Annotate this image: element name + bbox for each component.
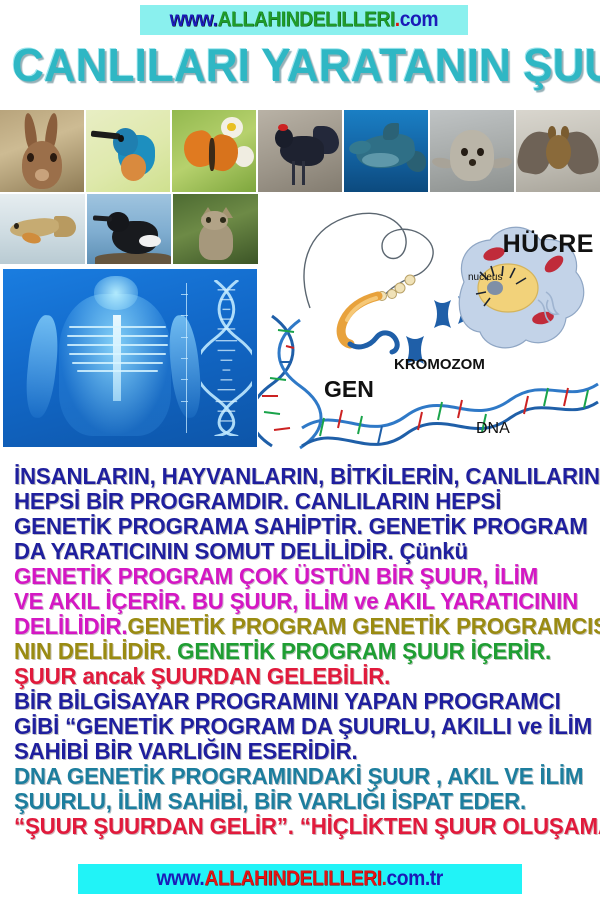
bat-photo: [516, 110, 600, 192]
label-nucleus: nucleus: [468, 272, 502, 283]
text-line: ŞUUR ancak ŞUURDAN GELEBİLİR.: [14, 664, 577, 689]
kingfisher-eye: [118, 135, 124, 142]
text-segment: BİR BİLGİSAYAR PROGRAMINI YAPAN PROGRAMC…: [14, 688, 561, 714]
text-segment: NIN DELİLİDİR.: [14, 638, 177, 664]
header-url-tld: com: [400, 8, 438, 31]
nucleolus-shape: [487, 281, 503, 295]
kingfisher-photo: [86, 110, 170, 192]
text-line: DA YARATICININ SOMUT DELİLİDİR. Çünkü: [14, 539, 577, 564]
animal-photo-grid-row-2: [0, 194, 258, 264]
rabbit-head: [22, 141, 62, 189]
text-line: “ŞUUR ŞUURDAN GELİR”. “HİÇLİKTEN ŞUUR OL…: [14, 814, 577, 839]
text-line: SAHİBİ BİR VARLIĞIN ESERİDİR.: [14, 739, 577, 764]
text-segment: İNSANLARIN, HAYVANLARIN, BİTKİLERİN, CAN…: [14, 463, 600, 489]
text-line: ŞUURLU, İLİM SAHİBİ, BİR VARLIĞI İSPAT E…: [14, 789, 577, 814]
xray-ruler-tick: [181, 294, 188, 295]
page-title: CANLILARI YARATANIN ŞUURU: [12, 38, 588, 92]
human-body-xray-dna-image: [2, 268, 258, 448]
text-line: GİBİ “GENETİK PROGRAM DA ŞUURLU, AKILLI …: [14, 714, 577, 739]
text-line: İNSANLARIN, HAYVANLARIN, BİTKİLERİN, CAN…: [14, 464, 577, 489]
footer-url-banner[interactable]: www.ALLAHINDELILLERI.com.tr: [78, 864, 522, 894]
text-line: DELİLİDİR.GENETİK PROGRAM GENETİK PROGRA…: [14, 614, 577, 639]
xray-arm-right: [165, 314, 204, 420]
black-grouse-photo: [258, 110, 342, 192]
seal-eye-left: [461, 148, 468, 156]
xray-rib: [69, 353, 166, 355]
seal-nose: [469, 159, 477, 166]
rabbit-eye-left: [27, 153, 34, 162]
rabbit-eye-right: [50, 153, 57, 162]
text-segment: VE AKIL İÇERİR. BU ŞUUR, İLİM ve AKIL YA…: [14, 588, 578, 614]
rabbit-snout: [35, 169, 48, 180]
footer-url-text: www.ALLAHINDELILLERI.com.tr: [157, 867, 443, 891]
guillemot-wing-patch: [139, 235, 161, 248]
text-line: GENETİK PROGRAM ÇOK ÜSTÜN BİR ŞUUR, İLİM: [14, 564, 577, 589]
header-url-text: www.ALLAHINDELILLERI.com: [170, 8, 438, 32]
dolphin-photo: [344, 110, 428, 192]
header-url-prefix: www.: [170, 8, 218, 31]
guillemot-head: [107, 212, 129, 232]
footer-url-tld: com.tr: [387, 867, 443, 890]
text-line: NIN DELİLİDİR. GENETİK PROGRAM ŞUUR İÇER…: [14, 639, 577, 664]
xray-ruler-tick: [181, 379, 188, 380]
chromatin-loop: [304, 213, 433, 308]
text-segment: DA YARATICININ SOMUT DELİLİDİR. Çünkü: [14, 538, 468, 564]
grouse-leg-right: [302, 161, 305, 186]
xray-ruler-tick: [181, 337, 188, 338]
text-segment: GENETİK PROGRAMA SAHİPTİR. GENETİK PROGR…: [14, 513, 588, 539]
dna-helix-icon: [201, 280, 252, 437]
xray-ruler-tick: [181, 358, 188, 359]
kingfisher-belly: [121, 154, 146, 180]
xray-rib: [69, 326, 166, 328]
text-segment: DNA GENETİK PROGRAMINDAKİ ŞUUR , AKIL VE…: [14, 763, 583, 789]
text-line: DNA GENETİK PROGRAMINDAKİ ŞUUR , AKIL VE…: [14, 764, 577, 789]
dolphin-dorsal-fin: [383, 123, 400, 139]
text-segment: GENETİK PROGRAM ŞUUR İÇERİR.: [177, 638, 551, 664]
seal-eye-right: [477, 148, 484, 156]
nucleosome-beads: [378, 275, 416, 301]
label-hucre: HÜCRE: [503, 230, 594, 259]
text-line: GENETİK PROGRAMA SAHİPTİR. GENETİK PROGR…: [14, 514, 577, 539]
text-segment: SAHİBİ BİR VARLIĞIN ESERİDİR.: [14, 738, 358, 764]
cat-eye-left: [206, 217, 212, 223]
xray-ruler-tick: [181, 315, 188, 316]
rabbit-photo: [0, 110, 84, 192]
xray-head: [94, 276, 137, 310]
text-segment: DELİLİDİR.: [14, 613, 127, 639]
fish-photo: [0, 194, 85, 264]
text-segment: ŞUUR ancak ŞUURDAN GELEBİLİR.: [14, 663, 390, 689]
text-segment: “ŞUUR ŞUURDAN GELİR”. “HİÇLİKTEN ŞUUR OL…: [14, 813, 600, 839]
footer-url-name: ALLAHINDELILLERI: [205, 867, 382, 890]
header-url-banner[interactable]: www.ALLAHINDELILLERI.com: [140, 5, 468, 35]
text-segment: GENETİK PROGRAM GENETİK PROGRAMCISI-: [127, 613, 600, 639]
text-segment: GENETİK PROGRAM ÇOK ÜSTÜN BİR ŞUUR, İLİM: [14, 563, 538, 589]
label-dna: DNA: [476, 420, 510, 438]
animal-photo-grid-row-1: [0, 110, 600, 192]
guillemot-beak: [93, 216, 112, 222]
cat-eye-right: [220, 217, 226, 223]
xray-spine: [113, 315, 121, 400]
xray-rib: [67, 335, 169, 337]
seal-photo: [430, 110, 514, 192]
xray-ruler-tick: [181, 401, 188, 402]
main-text-block: İNSANLARIN, HAYVANLARIN, BİTKİLERİN, CAN…: [14, 464, 594, 839]
footer-url-prefix: www.: [157, 867, 205, 890]
cat-photo: [173, 194, 258, 264]
xray-arm-left: [23, 314, 62, 420]
text-segment: ŞUURLU, İLİM SAHİBİ, BİR VARLIĞI İSPAT E…: [14, 788, 526, 814]
text-line: HEPSİ BİR PROGRAMDIR. CANLILARIN HEPSİ: [14, 489, 577, 514]
cell-gene-chromosome-dna-diagram: HÜCRE nucleus KROMOZOM GEN DNA: [258, 196, 600, 458]
grouse-leg-left: [292, 161, 295, 186]
header-url-name: ALLAHINDELILLERI: [218, 8, 395, 31]
guillemot-photo: [87, 194, 172, 264]
butterfly-photo: [172, 110, 256, 192]
seal-body: [450, 130, 494, 181]
text-line: BİR BİLGİSAYAR PROGRAMINI YAPAN PROGRAMC…: [14, 689, 577, 714]
butterfly-body: [209, 138, 215, 171]
xray-rib: [67, 344, 169, 346]
gene-segment: [350, 333, 397, 352]
text-segment: HEPSİ BİR PROGRAMDIR. CANLILARIN HEPSİ: [14, 488, 501, 514]
xray-rib: [72, 362, 163, 364]
grouse-head: [275, 128, 293, 148]
guillemot-rock: [95, 253, 171, 264]
label-gen: GEN: [324, 376, 374, 403]
text-segment: GİBİ “GENETİK PROGRAM DA ŞUURLU, AKILLI …: [14, 713, 592, 739]
label-kromozom: KROMOZOM: [394, 356, 485, 373]
text-line: VE AKIL İÇERİR. BU ŞUUR, İLİM ve AKIL YA…: [14, 589, 577, 614]
